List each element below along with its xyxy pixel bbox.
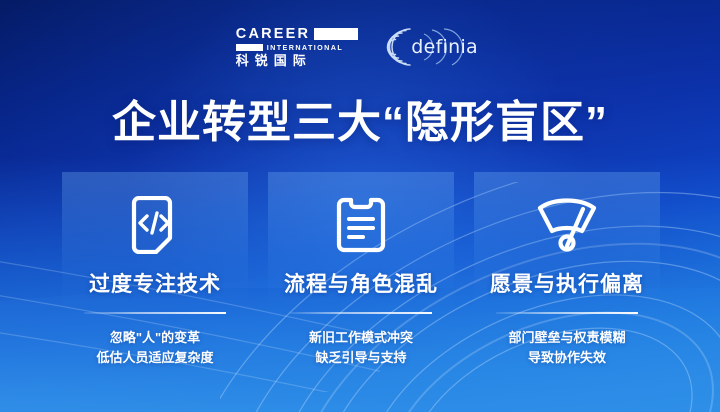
career-logo-top: CAREER [236, 27, 358, 42]
card-subtitle: 新旧工作模式冲突 缺乏引导与支持 [309, 328, 413, 368]
card-subtitle-line1: 忽略"人"的变革 [96, 328, 213, 348]
card-divider [84, 312, 226, 314]
card-vision-execution-gap[interactable]: 愿景与执行偏离 部门壁垒与权责模糊 导致协作失效 [474, 172, 660, 368]
page-title: 企业转型三大“隐形盲区” [0, 86, 720, 150]
card-divider [290, 312, 432, 314]
card-subtitle: 部门壁垒与权责模糊 导致协作失效 [508, 328, 625, 368]
card-overfocus-technology[interactable]: 过度专注技术 忽略"人"的变革 低估人员适应复杂度 [62, 172, 248, 368]
card-subtitle-line2: 低估人员适应复杂度 [96, 348, 213, 368]
card-subtitle-line2: 缺乏引导与支持 [309, 348, 413, 368]
definia-wordmark: definia [411, 36, 478, 58]
card-subtitle-line1: 新旧工作模式冲突 [309, 328, 413, 348]
card-title: 愿景与执行偏离 [490, 268, 644, 298]
clipboard-icon [330, 194, 392, 256]
card-subtitle-line1: 部门壁垒与权责模糊 [508, 328, 625, 348]
card-title: 流程与角色混乱 [284, 268, 438, 298]
career-international-logo: CAREER INTERNATIONAL 科锐国际 [236, 27, 358, 67]
cards-row: 过度专注技术 忽略"人"的变革 低估人员适应复杂度 流程与角色混乱 新旧工作模式… [62, 172, 660, 368]
code-document-icon [124, 194, 186, 256]
card-title: 过度专注技术 [89, 268, 221, 298]
career-logo-international: INTERNATIONAL [267, 44, 343, 51]
career-logo-chinese: 科锐国际 [236, 54, 312, 67]
card-subtitle-line2: 导致协作失效 [508, 348, 625, 368]
career-logo-block [314, 28, 358, 40]
gauge-icon [536, 194, 598, 256]
career-logo-middle: INTERNATIONAL [236, 44, 343, 51]
card-process-role-confusion[interactable]: 流程与角色混乱 新旧工作模式冲突 缺乏引导与支持 [268, 172, 454, 368]
definia-logo: definia [380, 24, 484, 70]
logo-row: CAREER INTERNATIONAL 科锐国际 [0, 24, 720, 70]
career-logo-block-small [236, 44, 263, 51]
card-subtitle: 忽略"人"的变革 低估人员适应复杂度 [96, 328, 213, 368]
card-divider [496, 312, 638, 314]
poster-root: CAREER INTERNATIONAL 科锐国际 [0, 0, 720, 412]
career-logo-english: CAREER [236, 27, 310, 42]
